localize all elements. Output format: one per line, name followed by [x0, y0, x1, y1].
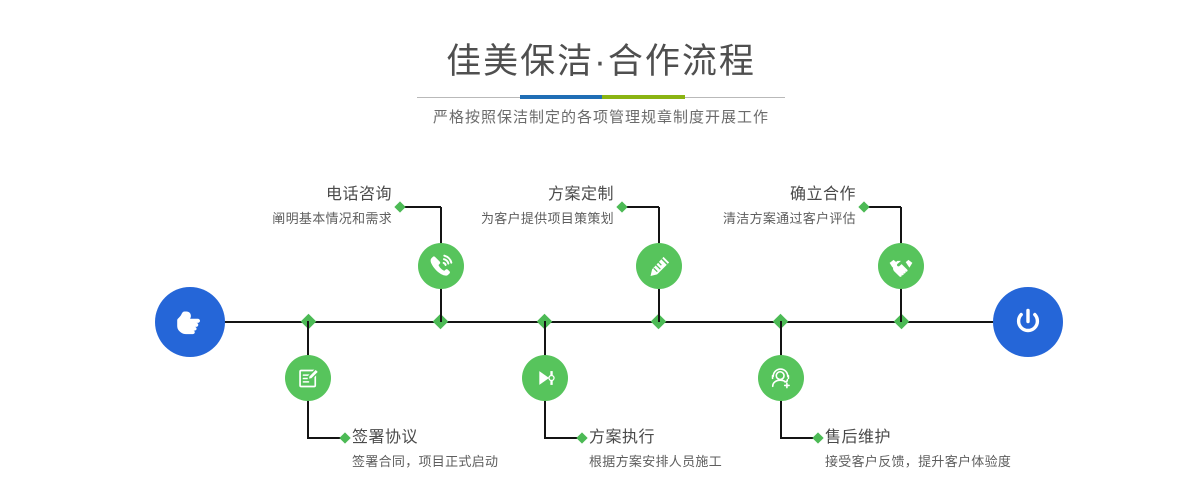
- step-label-5: 确立合作 清洁方案通过客户评估: [614, 185, 856, 228]
- step-label-2: 签署协议 签署合同，项目正式启动: [352, 428, 612, 471]
- divider-blue-segment: [520, 95, 602, 99]
- step-node-5: [878, 243, 924, 289]
- step-title-3: 方案定制: [372, 185, 614, 205]
- document-pen-icon: [295, 365, 322, 392]
- step-desc-4: 根据方案安排人员施工: [589, 452, 849, 471]
- phone-ring-icon: [427, 252, 455, 280]
- connector-tip-step-2: [339, 432, 350, 443]
- step-desc-6: 接受客户反馈，提升客户体验度: [825, 452, 1105, 471]
- step-node-4: [522, 355, 568, 401]
- step-label-3: 方案定制 为客户提供项目策策划: [372, 185, 614, 228]
- step-label-6: 售后维护 接受客户反馈，提升客户体验度: [825, 428, 1105, 471]
- timeline-start-marker: [155, 287, 225, 357]
- title-divider: [417, 95, 785, 99]
- step-label-4: 方案执行 根据方案安排人员施工: [589, 428, 849, 471]
- divider-green-segment: [602, 95, 685, 99]
- header: 佳美保洁·合作流程: [0, 0, 1202, 84]
- flowchart-canvas: 佳美保洁·合作流程 严格按照保洁制定的各项管理规章制度开展工作: [0, 0, 1202, 502]
- pencil-ruler-icon: [646, 253, 673, 280]
- step-node-6: [758, 355, 804, 401]
- step-title-6: 售后维护: [825, 428, 1105, 448]
- pointing-hand-icon: [170, 302, 210, 342]
- step-node-2: [285, 355, 331, 401]
- connector-tip-step-5: [858, 201, 869, 212]
- headset-plus-icon: [768, 365, 795, 392]
- step-desc-3: 为客户提供项目策策划: [372, 209, 614, 228]
- page-title: 佳美保洁·合作流程: [0, 0, 1202, 84]
- page-subtitle: 严格按照保洁制定的各项管理规章制度开展工作: [0, 106, 1202, 127]
- step-node-3: [636, 243, 682, 289]
- power-icon: [1008, 302, 1048, 342]
- play-skip-icon: [532, 365, 558, 391]
- connector-horizontal-step-4: [544, 437, 580, 439]
- step-desc-2: 签署合同，项目正式启动: [352, 452, 612, 471]
- step-desc-1: 阐明基本情况和需求: [150, 209, 392, 228]
- step-label-1: 电话咨询 阐明基本情况和需求: [150, 185, 392, 228]
- connector-horizontal-step-6: [780, 437, 816, 439]
- step-node-1: [418, 243, 464, 289]
- timeline-end-marker: [993, 287, 1063, 357]
- handshake-icon: [887, 252, 915, 280]
- step-title-1: 电话咨询: [150, 185, 392, 205]
- step-desc-5: 清洁方案通过客户评估: [614, 209, 856, 228]
- step-title-5: 确立合作: [614, 185, 856, 205]
